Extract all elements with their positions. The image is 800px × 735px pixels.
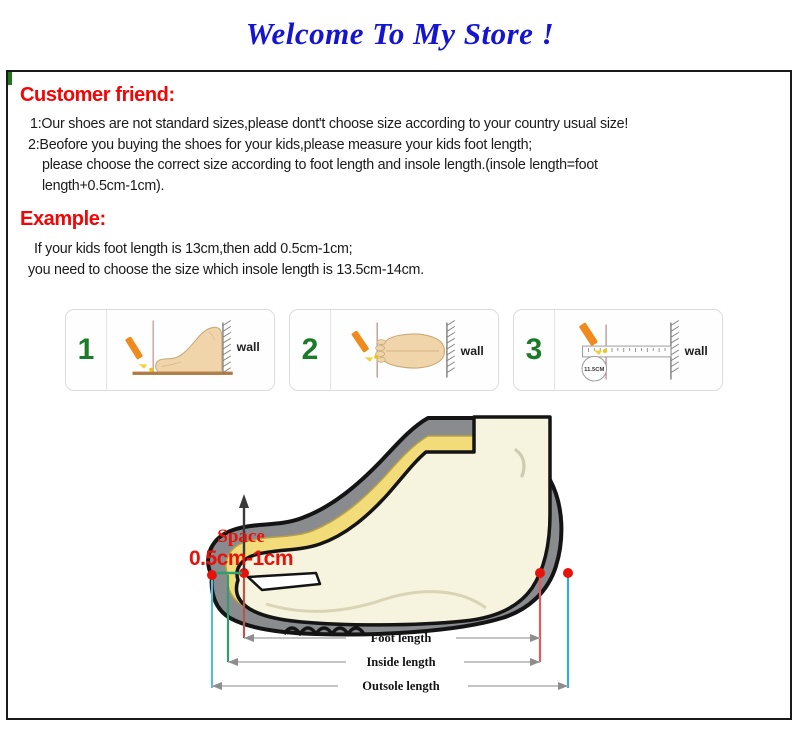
example-lines: If your kids foot length is 13cm,then ad… xyxy=(20,239,424,281)
customer-friend-lines: 1:Our shoes are not standard sizes,pleas… xyxy=(20,114,628,196)
example-line-2: you need to choose the size which insole… xyxy=(20,260,424,281)
marker-dot-outsole-right xyxy=(563,568,573,578)
inside-length-measure: Inside length xyxy=(228,655,540,669)
outsole-length-label: Outsole length xyxy=(362,679,439,693)
customer-line-3: please choose the correct size according… xyxy=(20,155,628,176)
step-number-cell-3: 3 xyxy=(514,310,555,390)
page-header: Welcome To My Store ! xyxy=(0,0,800,68)
customer-line-2: 2:Beofore you buying the shoes for your … xyxy=(20,135,628,156)
step-number-1: 1 xyxy=(78,333,95,367)
step-number-cell-1: 1 xyxy=(66,310,107,390)
marker-dot-foot-right xyxy=(535,568,545,578)
ruler-reading: 11.5CM xyxy=(584,367,604,373)
step-card-1: 1 xyxy=(65,309,275,391)
step-art-2: wall xyxy=(331,310,498,390)
inside-length-label: Inside length xyxy=(366,655,435,669)
wall-label-2: wall xyxy=(460,344,484,358)
foot-length-label: Foot length xyxy=(371,631,432,645)
top-foot-pencil-icon: wall xyxy=(331,310,498,390)
step-art-3: 11.5CM wall xyxy=(555,310,722,390)
wall-label-3: wall xyxy=(684,344,708,358)
example-line-1: If your kids foot length is 13cm,then ad… xyxy=(20,239,424,260)
measure-steps: 1 xyxy=(65,309,723,391)
space-arrow-head xyxy=(239,494,249,508)
step-number-cell-2: 2 xyxy=(290,310,331,390)
outsole-length-measure: Outsole length xyxy=(212,679,568,693)
wall-label-1: wall xyxy=(236,340,260,354)
marker-dot-outsole-left xyxy=(207,570,217,580)
page-title: Welcome To My Store ! xyxy=(246,16,554,52)
step-art-1: wall xyxy=(107,310,274,390)
example-heading: Example: xyxy=(20,208,106,231)
customer-friend-heading: Customer friend: xyxy=(20,84,175,107)
customer-line-1: 1:Our shoes are not standard sizes,pleas… xyxy=(20,114,628,135)
customer-line-4: length+0.5cm-1cm). xyxy=(20,176,628,197)
shoe-measurement-diagram: Foot length Inside length Outsole length xyxy=(16,394,784,716)
step-number-2: 2 xyxy=(302,333,319,367)
ruler-measure-icon: 11.5CM wall xyxy=(555,310,722,390)
shoe-cross-section-svg: Foot length Inside length Outsole length xyxy=(16,394,784,716)
step-number-3: 3 xyxy=(526,333,543,367)
step-card-2: 2 xyxy=(289,309,499,391)
step-card-3: 3 xyxy=(513,309,723,391)
side-foot-pencil-icon: wall xyxy=(107,310,274,390)
corner-accent-mark xyxy=(8,72,12,85)
content-panel: Customer friend: 1:Our shoes are not sta… xyxy=(6,70,792,720)
